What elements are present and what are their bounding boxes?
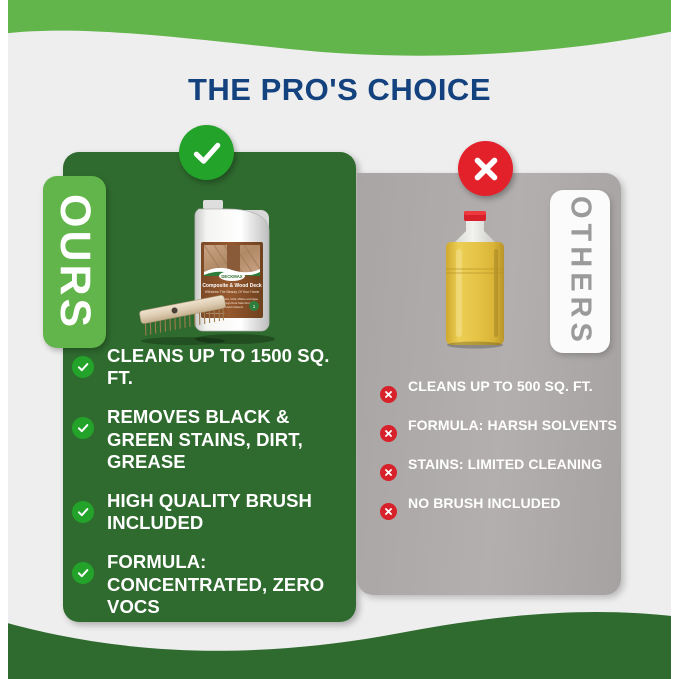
list-item-label: REMOVES BLACK & GREEN STAINS, DIRT, GREA…: [107, 406, 352, 473]
check-icon: [72, 501, 94, 523]
list-item-label: STAINS: LIMITED CLEANING: [408, 456, 602, 473]
x-icon: [380, 425, 397, 442]
x-icon: [380, 386, 397, 403]
ours-tab: OURS: [43, 176, 106, 348]
ours-tab-label: OURS: [53, 194, 96, 330]
list-item: REMOVES BLACK & GREEN STAINS, DIRT, GREA…: [72, 406, 352, 473]
list-item: STAINS: LIMITED CLEANING: [380, 456, 620, 481]
list-item: NO BRUSH INCLUDED: [380, 495, 620, 520]
list-item-label: FORMULA: CONCENTRATED, ZERO VOCS: [107, 551, 352, 618]
x-icon: [380, 464, 397, 481]
check-icon: [72, 356, 94, 378]
list-item-label: HIGH QUALITY BRUSH INCLUDED: [107, 490, 352, 534]
svg-text:DECKMAX: DECKMAX: [221, 274, 242, 279]
x-badge: [458, 141, 513, 196]
list-item-label: FORMULA: HARSH SOLVENTS: [408, 417, 617, 434]
ours-feature-list: CLEANS UP TO 1500 SQ. FT. REMOVES BLACK …: [72, 345, 352, 635]
list-item-label: NO BRUSH INCLUDED: [408, 495, 561, 512]
list-item: FORMULA: HARSH SOLVENTS: [380, 417, 620, 442]
list-item: FORMULA: CONCENTRATED, ZERO VOCS: [72, 551, 352, 618]
x-icon: [469, 152, 503, 186]
check-icon: [72, 417, 94, 439]
list-item: CLEANS UP TO 1500 SQ. FT.: [72, 345, 352, 389]
infographic-canvas: THE PRO'S CHOICE: [0, 0, 679, 679]
list-item-label: CLEANS UP TO 500 SQ. FT.: [408, 378, 593, 395]
check-badge: [179, 125, 234, 180]
others-feature-list: CLEANS UP TO 500 SQ. FT. FORMULA: HARSH …: [380, 378, 620, 534]
top-wave-decoration: [0, 0, 679, 70]
others-tab: OTHERS: [550, 190, 610, 353]
competitor-bottle-image: [437, 209, 513, 349]
list-item: CLEANS UP TO 500 SQ. FT.: [380, 378, 620, 403]
deck-brush-image: [131, 289, 236, 347]
list-item-label: CLEANS UP TO 1500 SQ. FT.: [107, 345, 352, 389]
page-title: THE PRO'S CHOICE: [0, 72, 679, 108]
others-tab-label: OTHERS: [566, 196, 595, 347]
check-icon: [190, 136, 224, 170]
list-item: HIGH QUALITY BRUSH INCLUDED: [72, 490, 352, 534]
check-icon: [72, 562, 94, 584]
x-icon: [380, 503, 397, 520]
